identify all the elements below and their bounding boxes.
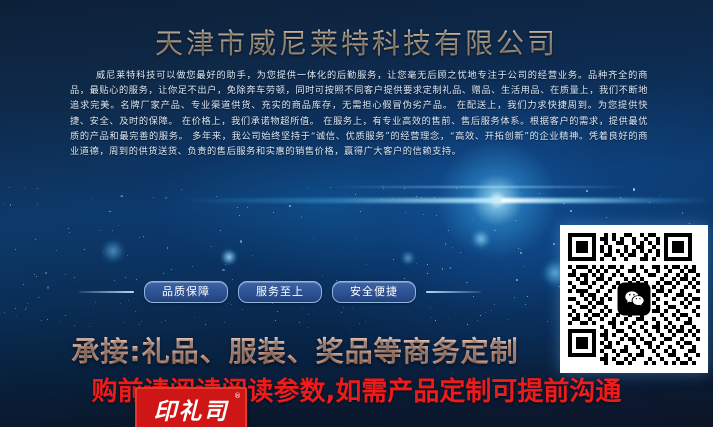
page-title: 天津市威尼莱特科技有限公司 [0,22,713,62]
lens-flare-streak [180,198,713,203]
divider-line-right [426,291,481,293]
glow-orb [220,248,238,266]
promo-headline-notice: 购前请阅读阅读参数,如需产品定制可提前沟通 [0,371,713,408]
promo-headline-customization: 承接:礼品、服装、奖品等商务定制 [0,330,590,370]
glow-orb [400,250,416,266]
wechat-icon [618,283,651,316]
brand-logo-text: 印礼司 [154,392,229,426]
promo-banner: 天津市威尼莱特科技有限公司 威尼莱特科技可以做您最好的助手，为您提供一体化的后勤… [0,0,713,427]
glow-orb [470,228,492,250]
feature-badge-row: 品质保障 服务至上 安全便捷 [0,281,560,303]
company-intro-paragraph: 威尼莱特科技可以做您最好的助手，为您提供一体化的后勤服务，让您毫无后顾之忧地专注… [70,68,648,159]
wechat-glyph [623,288,645,310]
registered-trademark-mark: ® [234,392,241,400]
glow-orb [100,238,126,264]
badge-safe-convenient[interactable]: 安全便捷 [332,281,416,303]
divider-line-left [79,291,134,293]
brand-logo-stamp: 印礼司 ® [135,387,247,427]
wechat-qr-code[interactable] [560,225,708,373]
badge-quality-assurance[interactable]: 品质保障 [144,281,228,303]
badge-service-first[interactable]: 服务至上 [238,281,322,303]
lens-flare-streak-thin [330,186,630,188]
